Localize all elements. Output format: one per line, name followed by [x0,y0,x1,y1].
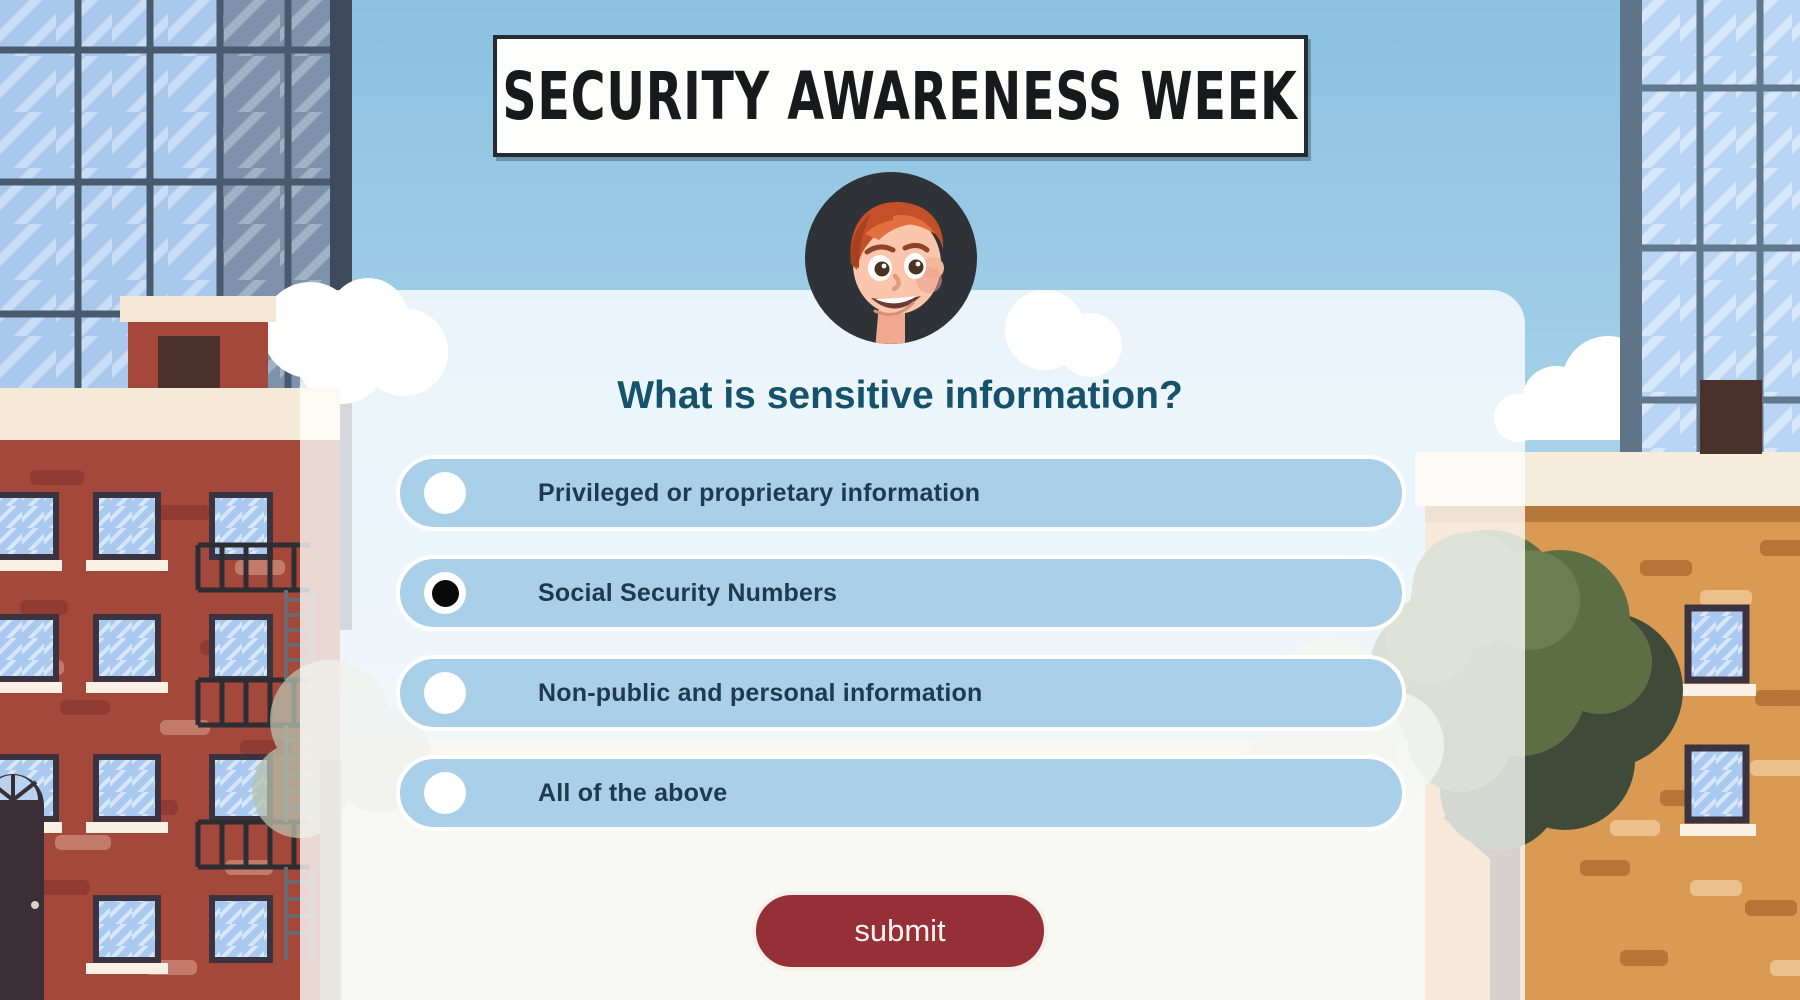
avatar [805,172,977,344]
radio-button-icon[interactable] [424,772,466,814]
quiz-option-label: All of the above [538,779,727,808]
quiz-options-list: Privileged or proprietary information So… [396,455,1406,855]
quiz-option-label: Privileged or proprietary information [538,479,980,508]
quiz-option-3[interactable]: Non-public and personal information [396,655,1406,731]
page-title-banner: SECURITY AWARENESS WEEK [493,35,1308,157]
quiz-option-label: Non-public and personal information [538,679,983,708]
quiz-content: SECURITY AWARENESS WEEK [0,0,1800,1000]
quiz-question: What is sensitive information? [0,374,1800,418]
quiz-option-4[interactable]: All of the above [396,755,1406,831]
submit-button[interactable]: submit [752,891,1048,971]
page-title: SECURITY AWARENESS WEEK [503,58,1298,135]
screen: SECURITY AWARENESS WEEK [0,0,1800,1000]
radio-button-icon[interactable] [424,472,466,514]
radio-button-selected-icon[interactable] [424,572,466,614]
quiz-option-1[interactable]: Privileged or proprietary information [396,455,1406,531]
quiz-option-2[interactable]: Social Security Numbers [396,555,1406,631]
quiz-option-label: Social Security Numbers [538,579,837,608]
radio-button-icon[interactable] [424,672,466,714]
